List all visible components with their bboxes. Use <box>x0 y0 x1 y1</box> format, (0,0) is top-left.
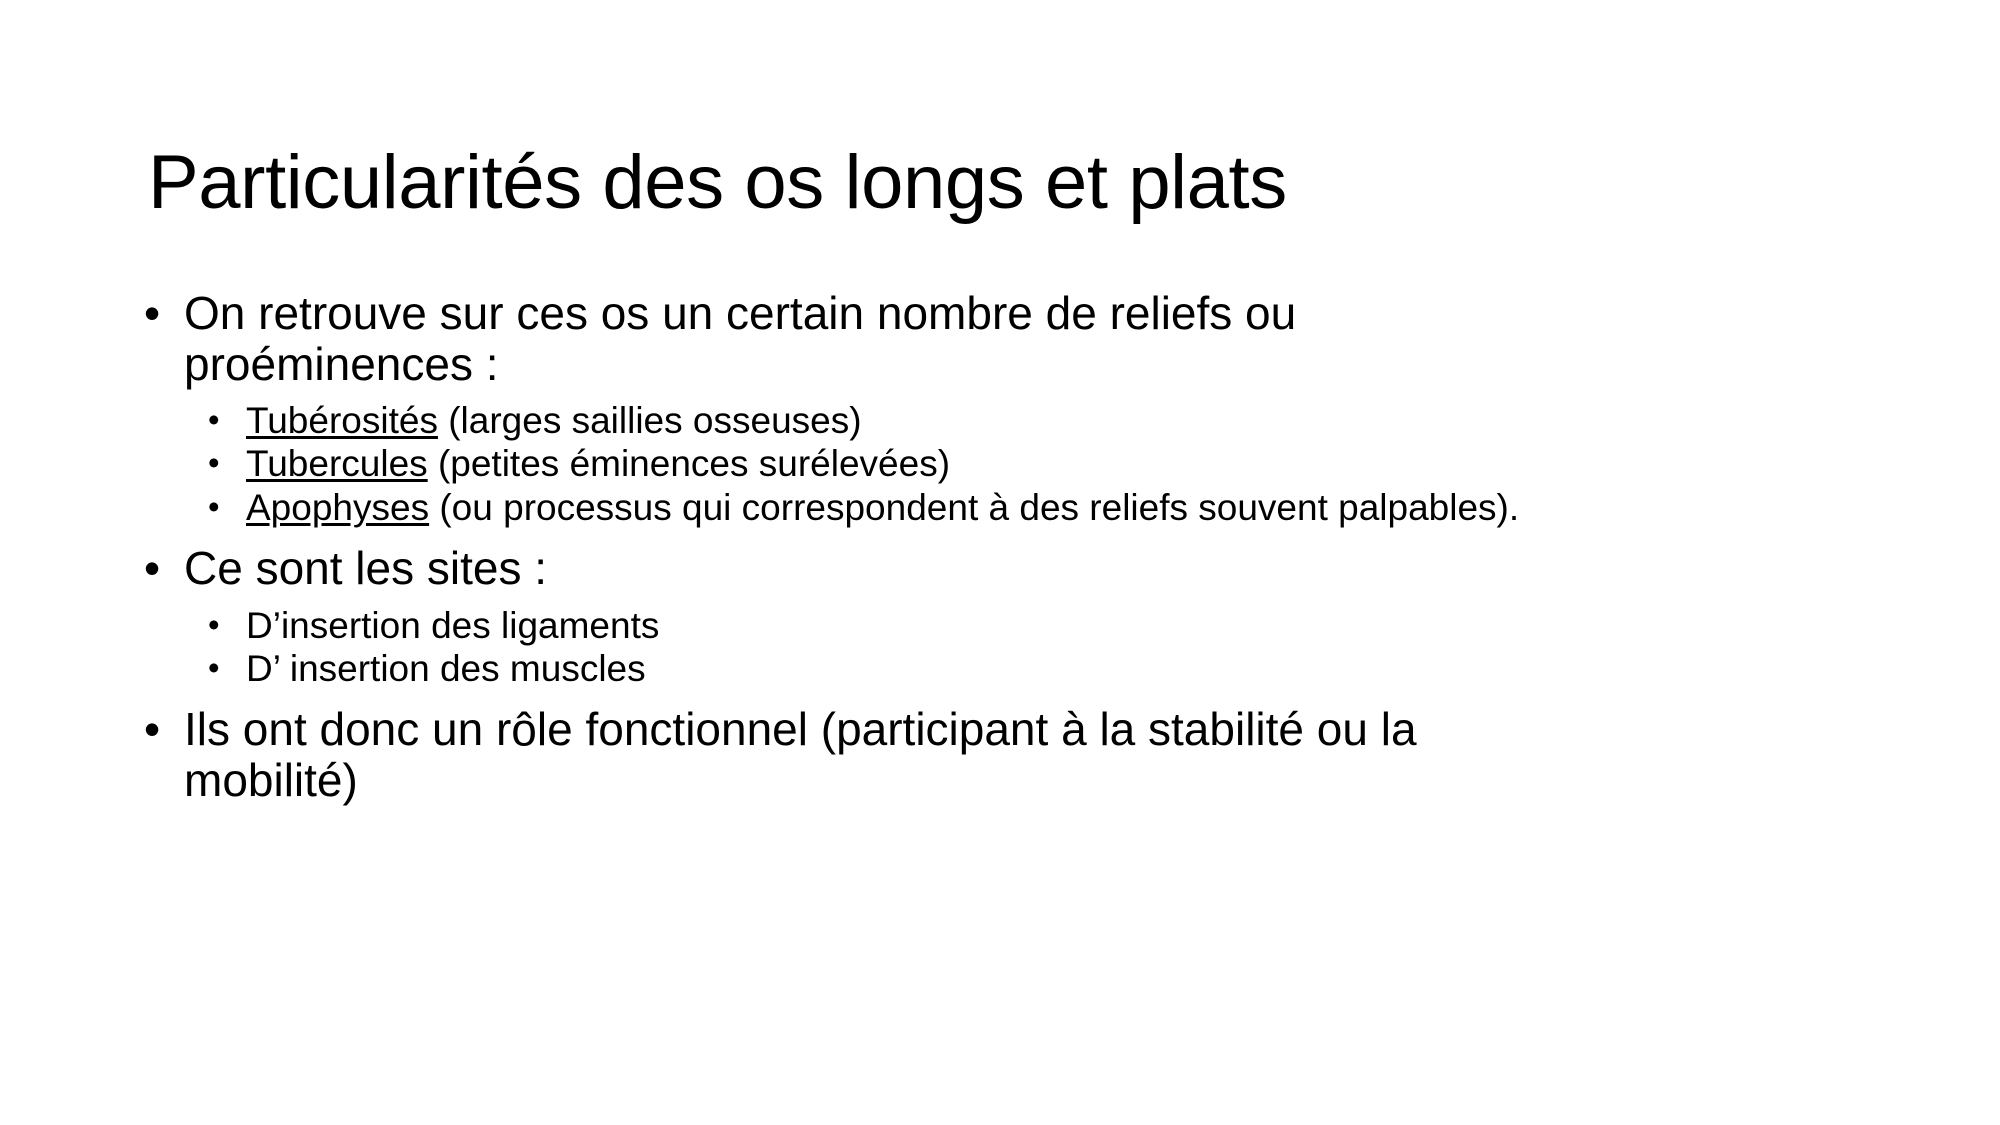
sub-bullet-item-muscles: • D’ insertion des muscles <box>202 647 1900 690</box>
sub-bullet-rest: (larges saillies osseuses) <box>438 400 862 441</box>
presentation-slide: Particularités des os longs et plats • O… <box>0 0 2000 1125</box>
bullet-item-sites: • Ce sont les sites : <box>140 543 1900 594</box>
spacer <box>140 690 1900 704</box>
sub-bullet-list-reliefs: • Tubérosités (larges saillies osseuses)… <box>140 399 1900 529</box>
sub-bullet-item-tubercules: • Tubercules (petites éminences surélevé… <box>202 442 1900 485</box>
sub-bullet-text: Tubérosités (larges saillies osseuses) <box>246 399 1900 442</box>
sub-bullet-item-apophyses: • Apophyses (ou processus qui correspond… <box>202 486 1900 529</box>
sub-bullet-item-ligaments: • D’insertion des ligaments <box>202 604 1900 647</box>
sub-bullet-rest: (petites éminences surélevées) <box>428 443 950 484</box>
slide-body: • On retrouve sur ces os un certain nomb… <box>140 288 1900 807</box>
bullet-glyph-icon: • <box>208 399 220 442</box>
spacer <box>140 391 1900 399</box>
sub-bullet-text: Tubercules (petites éminences surélevées… <box>246 442 1900 485</box>
sub-bullet-item-tuberosites: • Tubérosités (larges saillies osseuses) <box>202 399 1900 442</box>
underlined-term-tuberosites: Tubérosités <box>246 400 438 441</box>
bullet-item-role-fonctionnel: • Ils ont donc un rôle fonctionnel (part… <box>140 704 1900 805</box>
slide-title: Particularités des os longs et plats <box>148 143 1848 223</box>
bullet-text: Ce sont les sites : <box>184 543 1514 594</box>
spacer <box>140 596 1900 604</box>
bullet-text: Ils ont donc un rôle fonctionnel (partic… <box>184 704 1514 805</box>
sub-bullet-text: Apophyses (ou processus qui corresponden… <box>246 486 1900 529</box>
bullet-glyph-icon: • <box>144 288 160 339</box>
sub-bullet-rest: (ou processus qui correspondent à des re… <box>429 487 1519 528</box>
bullet-glyph-icon: • <box>144 543 160 594</box>
underlined-term-tubercules: Tubercules <box>246 443 428 484</box>
underlined-term-apophyses: Apophyses <box>246 487 429 528</box>
bullet-glyph-icon: • <box>208 647 220 690</box>
sub-bullet-text: D’ insertion des muscles <box>246 647 1900 690</box>
bullet-glyph-icon: • <box>208 604 220 647</box>
bullet-glyph-icon: • <box>208 486 220 529</box>
sub-bullet-text: D’insertion des ligaments <box>246 604 1900 647</box>
bullet-list: • On retrouve sur ces os un certain nomb… <box>140 288 1900 805</box>
bullet-item-reliefs: • On retrouve sur ces os un certain nomb… <box>140 288 1900 389</box>
bullet-glyph-icon: • <box>144 704 160 755</box>
spacer <box>140 529 1900 543</box>
bullet-text: On retrouve sur ces os un certain nombre… <box>184 288 1514 389</box>
bullet-glyph-icon: • <box>208 442 220 485</box>
sub-bullet-list-sites: • D’insertion des ligaments • D’ inserti… <box>140 604 1900 691</box>
